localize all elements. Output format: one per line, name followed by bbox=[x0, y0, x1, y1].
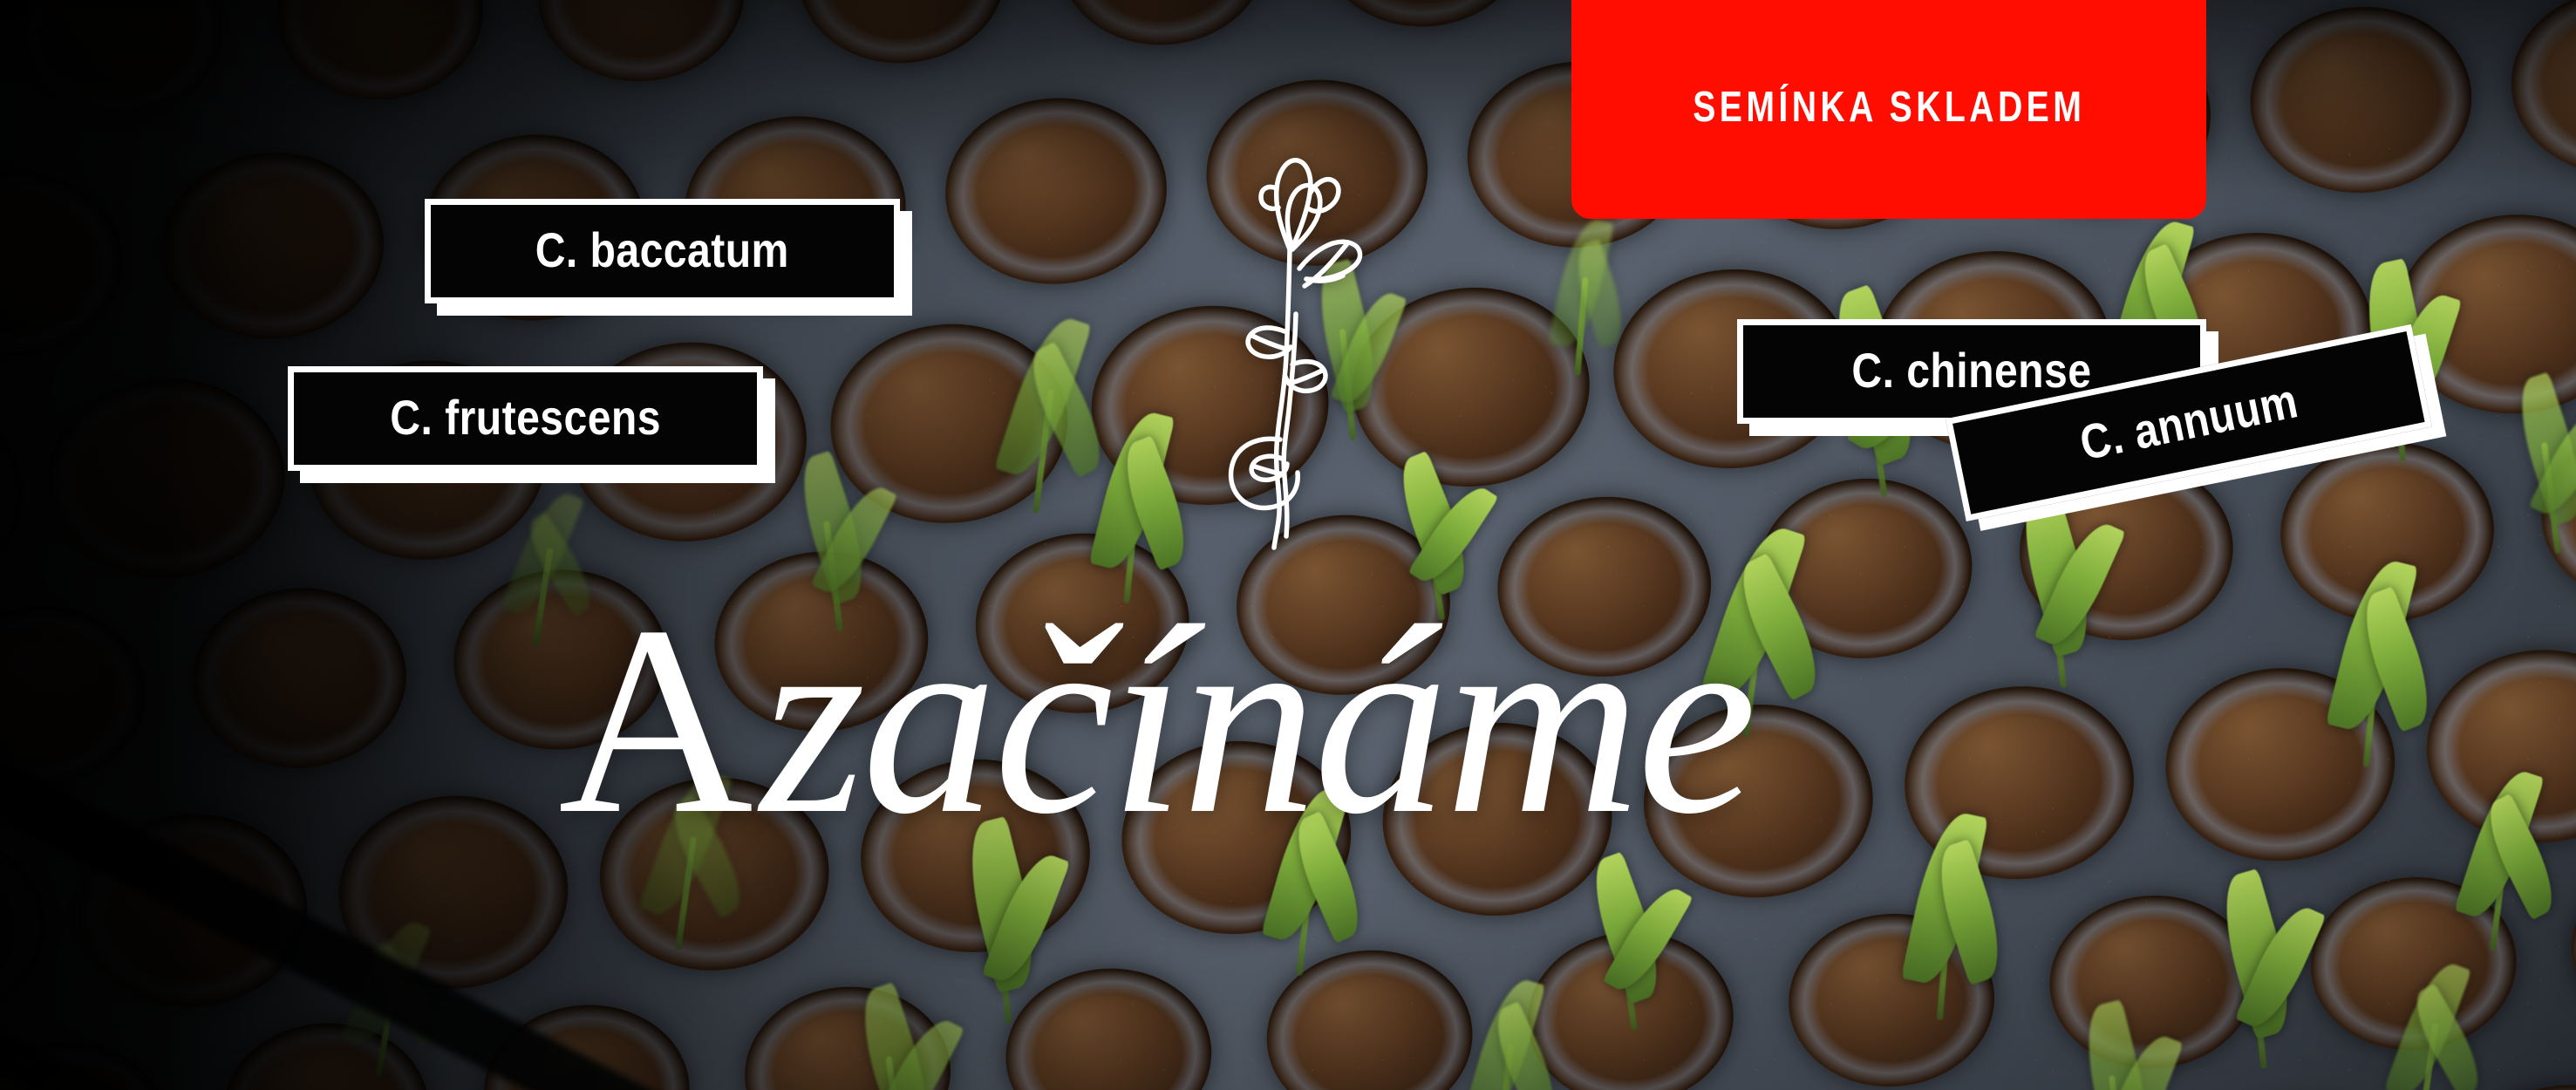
tag-box: C. frutescens bbox=[288, 366, 763, 471]
tag-box: C. baccatum bbox=[425, 199, 900, 303]
species-tag-label: C. frutescens bbox=[390, 389, 661, 446]
species-tag-label: C. annuum bbox=[2075, 371, 2302, 471]
stock-badge: SEMÍNKA SKLADEM bbox=[1571, 0, 2206, 219]
headline-roman: A bbox=[558, 571, 752, 870]
headline-italic: začínáme bbox=[760, 571, 1754, 870]
species-tag-label: C. baccatum bbox=[535, 221, 789, 278]
sprout-line-art-icon bbox=[1202, 140, 1376, 558]
page-title: Azačínáme bbox=[558, 586, 1754, 856]
promo-banner: SEMÍNKA SKLADEM C. baccatum C. frutescen… bbox=[0, 0, 2576, 1090]
stock-badge-label: SEMÍNKA SKLADEM bbox=[1693, 83, 2085, 132]
species-tag-label: C. chinense bbox=[1851, 342, 2091, 399]
